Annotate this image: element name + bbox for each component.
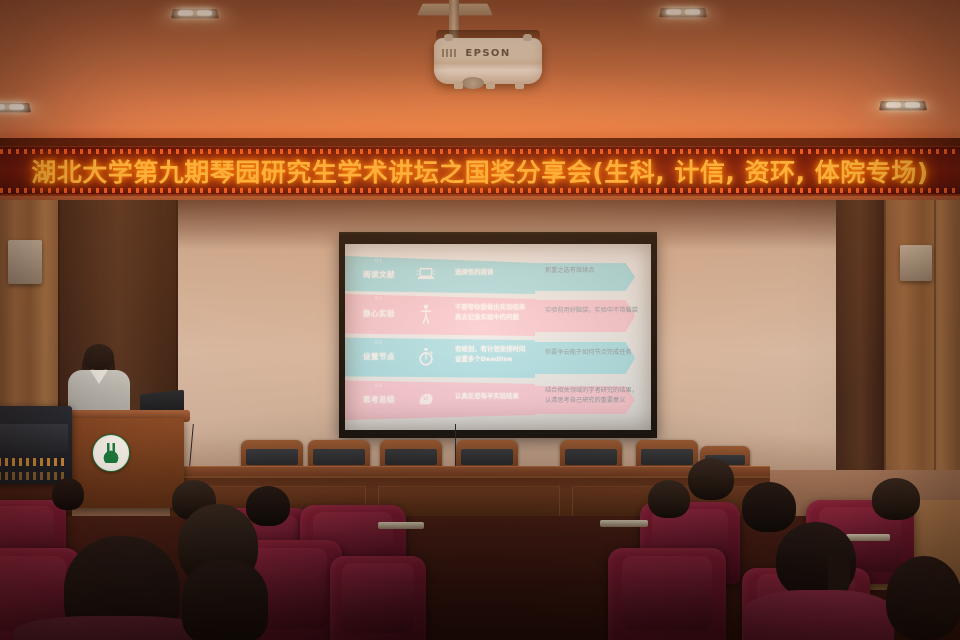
slide-row-label: 静心实验	[349, 308, 409, 319]
stage-chair	[241, 440, 303, 468]
wall-speaker-right	[900, 245, 932, 281]
speaker-hair-top	[84, 344, 114, 370]
epson-projector: EPSON	[434, 38, 542, 84]
audience-head	[742, 482, 796, 532]
stage-chair	[380, 440, 442, 468]
slide-row-right-text: 抓重之选有效续点	[545, 266, 641, 276]
university-emblem	[92, 434, 130, 472]
slide-row-right-text: 结合相关领域的学者研究的结果，认清思考自己研究的重要意义	[545, 386, 641, 405]
audience-seat	[608, 548, 726, 640]
slide-row-index: 03	[349, 341, 409, 346]
audience-head	[688, 458, 734, 500]
wall-panel-right-dark	[836, 200, 884, 470]
seat-writing-tray	[600, 520, 648, 527]
audience-head	[52, 478, 84, 510]
stage-chair	[560, 440, 622, 468]
ceiling-downlight	[659, 8, 707, 17]
stage-chair	[308, 440, 370, 468]
audience-shoulders	[744, 590, 894, 640]
ceiling-downlight	[0, 103, 31, 112]
projector-brand-label: EPSON	[434, 48, 542, 59]
slide-row-right-text: 你要争云能于如何节点完成任务	[545, 348, 641, 358]
stage-chair	[636, 440, 698, 468]
audience-head	[886, 556, 960, 640]
seat-writing-tray	[378, 522, 424, 529]
projector-lens	[462, 77, 484, 89]
table-microphone	[455, 424, 456, 468]
laptop-icon	[413, 267, 439, 285]
led-banner: 湖北大学第九期琴园研究生学术讲坛之国奖分享会(生科, 计信, 资环, 体院专场)	[0, 146, 960, 196]
audience-head	[872, 478, 920, 520]
slide-row-index: 01	[349, 259, 409, 264]
stage-chair	[456, 440, 518, 468]
slide-row-label: 设置节点	[349, 351, 409, 362]
audience-head	[182, 560, 268, 640]
audio-mixer-console	[0, 406, 72, 484]
slide-row-label: 阅读文献	[349, 269, 409, 280]
projection-screen: 01 阅读文献 选择性的阅读 抓重之选有效续点 02 静心实验 不要等你想做出实…	[345, 244, 651, 430]
slide-row-index: 04	[349, 384, 409, 389]
ceiling-downlight	[171, 9, 219, 18]
seat-writing-tray	[846, 534, 890, 541]
audience-seat	[330, 556, 426, 640]
speaker-glasses	[89, 360, 109, 366]
lecture-hall-photo: EPSON 湖北大学第九期琴园研究生学术讲坛之国奖分享会(生科, 计信, 资环,…	[0, 0, 960, 640]
banner-title-text: 湖北大学第九期琴园研究生学术讲坛之国奖分享会(生科, 计信, 资环, 体院专场)	[0, 153, 960, 189]
brain-head-icon	[413, 390, 439, 411]
audience-head	[246, 486, 290, 526]
ceiling-downlight	[879, 101, 927, 110]
slide-row-right-text: 实验前用好脑袋，实验中不带脑袋	[545, 306, 641, 316]
slide-row-index: 02	[349, 297, 409, 302]
audience-head	[648, 480, 690, 518]
wall-speaker-left	[8, 240, 42, 284]
person-walking-icon	[413, 304, 439, 327]
slide-row-label: 思考总结	[349, 394, 409, 405]
stopwatch-icon	[413, 347, 439, 370]
